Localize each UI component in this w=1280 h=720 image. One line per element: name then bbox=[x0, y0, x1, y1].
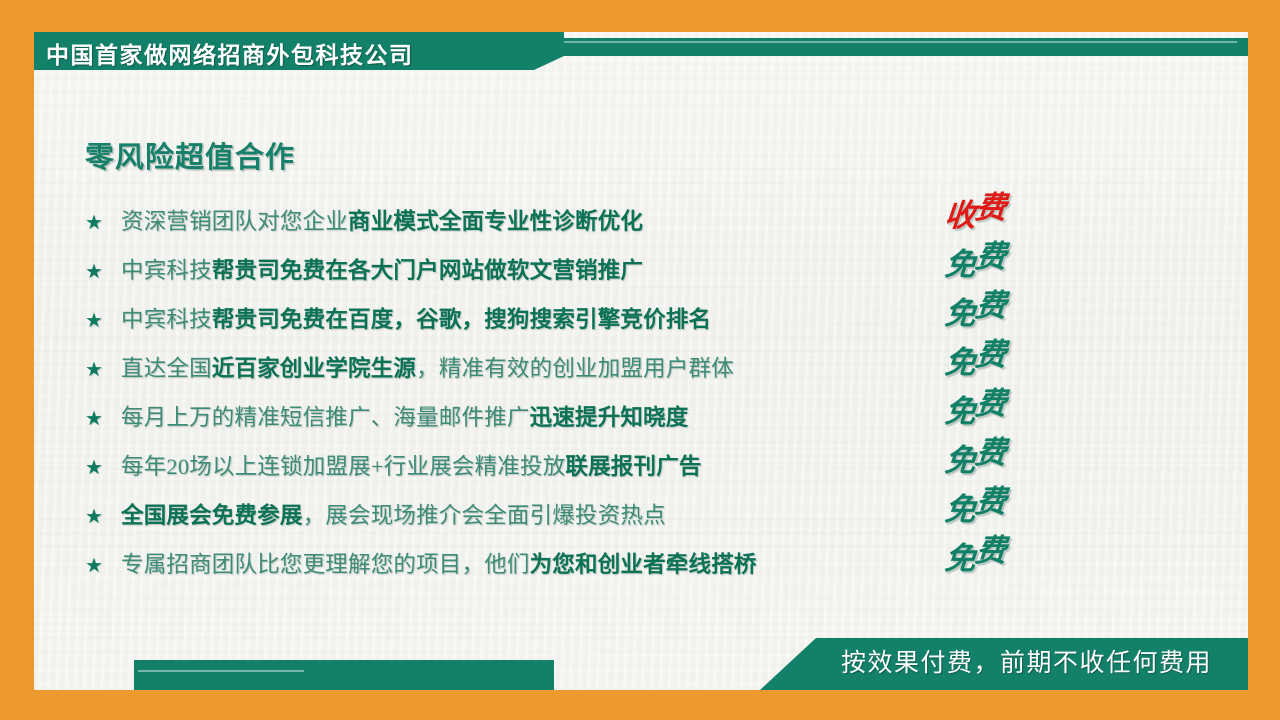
list-item: ★专属招商团队比您更理解您的项目，他们为您和创业者牵线搭桥 bbox=[85, 541, 965, 590]
footer-banner: 按效果付费，前期不收任何费用 bbox=[32, 638, 1248, 690]
list-item-label: 中宾科技帮贵司免费在各大门户网站做软文营销推广 bbox=[121, 259, 643, 284]
fee-badge-label-second: 费 bbox=[974, 329, 1008, 374]
fee-badge-label-second: 费 bbox=[974, 182, 1008, 227]
fee-badge-label-second: 费 bbox=[974, 525, 1008, 570]
list-item: ★每年20场以上连锁加盟展+行业展会精准投放联展报刊广告 bbox=[85, 443, 965, 492]
list-item-label: 专属招商团队比您更理解您的项目，他们为您和创业者牵线搭桥 bbox=[121, 553, 757, 578]
star-icon: ★ bbox=[85, 556, 121, 576]
label-emphasis: 近百家创业学院生源 bbox=[212, 356, 416, 381]
list-item-label: 全国展会免费参展，展会现场推介会全面引爆投资热点 bbox=[121, 504, 666, 529]
list-item-label: 每年20场以上连锁加盟展+行业展会精准投放联展报刊广告 bbox=[121, 455, 702, 480]
label-emphasis: 帮贵司免费在各大门户网站做软文营销推广 bbox=[212, 258, 643, 283]
fee-badge: 免费 bbox=[945, 535, 1065, 584]
label-emphasis: 迅速提升知晓度 bbox=[530, 405, 689, 430]
fee-badge-label-second: 费 bbox=[974, 378, 1008, 423]
label-plain: 中宾科技 bbox=[121, 307, 212, 332]
list-item: ★每月上万的精准短信推广、海量邮件推广迅速提升知晓度 bbox=[85, 394, 965, 443]
label-plain: 每月上万的精准短信推广、海量邮件推广 bbox=[121, 405, 530, 430]
list-item-label: 直达全国近百家创业学院生源，精准有效的创业加盟用户群体 bbox=[121, 357, 734, 382]
star-icon: ★ bbox=[85, 458, 121, 478]
list-item-label: 资深营销团队对您企业商业模式全面专业性诊断优化 bbox=[121, 210, 643, 235]
fee-badge-label-second: 费 bbox=[974, 280, 1008, 325]
label-plain: 专属招商团队比您更理解您的项目，他们 bbox=[121, 552, 530, 577]
list-item-label: 中宾科技帮贵司免费在百度，谷歌，搜狗搜索引擎竞价排名 bbox=[121, 308, 711, 333]
fee-badge-label: 免费 bbox=[943, 533, 1007, 578]
label-plain: ，精准有效的创业加盟用户群体 bbox=[416, 356, 734, 381]
page-title: 零风险超值合作 bbox=[85, 134, 295, 176]
label-emphasis: 为您和创业者牵线搭桥 bbox=[530, 552, 757, 577]
benefit-list: ★资深营销团队对您企业商业模式全面专业性诊断优化★中宾科技帮贵司免费在各大门户网… bbox=[85, 198, 965, 590]
label-plain: 直达全国 bbox=[121, 356, 212, 381]
footer-text: 按效果付费，前期不收任何费用 bbox=[841, 643, 1212, 679]
label-emphasis: 商业模式全面专业性诊断优化 bbox=[348, 209, 643, 234]
label-emphasis: 全国展会免费参展 bbox=[121, 503, 303, 528]
label-plain: 每年20场以上连锁加盟展+行业展会精准投放 bbox=[121, 454, 565, 479]
fee-badge-label: 免费 bbox=[943, 337, 1007, 382]
header-banner: 中国首家做网络招商外包科技公司 bbox=[34, 32, 1248, 70]
star-icon: ★ bbox=[85, 409, 121, 429]
label-plain: 资深营销团队对您企业 bbox=[121, 209, 348, 234]
list-item: ★全国展会免费参展，展会现场推介会全面引爆投资热点 bbox=[85, 492, 965, 541]
list-item-label: 每月上万的精准短信推广、海量邮件推广迅速提升知晓度 bbox=[121, 406, 689, 431]
star-icon: ★ bbox=[85, 262, 121, 282]
label-plain: ，展会现场推介会全面引爆投资热点 bbox=[303, 503, 666, 528]
footer-tail-bar bbox=[134, 660, 554, 690]
slide-root: 中国首家做网络招商外包科技公司 零风险超值合作 ★资深营销团队对您企业商业模式全… bbox=[0, 0, 1280, 720]
star-icon: ★ bbox=[85, 213, 121, 233]
list-item: ★资深营销团队对您企业商业模式全面专业性诊断优化 bbox=[85, 198, 965, 247]
list-item: ★中宾科技帮贵司免费在各大门户网站做软文营销推广 bbox=[85, 247, 965, 296]
label-plain: 中宾科技 bbox=[121, 258, 212, 283]
label-emphasis: 联展报刊广告 bbox=[565, 454, 701, 479]
star-icon: ★ bbox=[85, 311, 121, 331]
fee-badge-label: 免费 bbox=[943, 288, 1007, 333]
fee-label-column: 收费免费免费免费免费免费免费免费 bbox=[945, 192, 1065, 584]
fee-badge-label: 免费 bbox=[943, 484, 1007, 529]
fee-badge-label: 收费 bbox=[943, 190, 1007, 235]
label-emphasis: 帮贵司免费在百度，谷歌，搜狗搜索引擎竞价排名 bbox=[212, 307, 711, 332]
header-title: 中国首家做网络招商外包科技公司 bbox=[46, 36, 414, 70]
list-item: ★直达全国近百家创业学院生源，精准有效的创业加盟用户群体 bbox=[85, 345, 965, 394]
fee-badge-label-second: 费 bbox=[974, 476, 1008, 521]
fee-badge-label-second: 费 bbox=[974, 231, 1008, 276]
header-accent-line bbox=[547, 41, 1237, 43]
star-icon: ★ bbox=[85, 360, 121, 380]
fee-badge-label: 免费 bbox=[943, 386, 1007, 431]
star-icon: ★ bbox=[85, 507, 121, 527]
fee-badge-label: 免费 bbox=[943, 435, 1007, 480]
list-item: ★中宾科技帮贵司免费在百度，谷歌，搜狗搜索引擎竞价排名 bbox=[85, 296, 965, 345]
fee-badge-label: 免费 bbox=[943, 239, 1007, 284]
fee-badge-label-second: 费 bbox=[974, 427, 1008, 472]
footer-accent-line bbox=[138, 670, 304, 672]
